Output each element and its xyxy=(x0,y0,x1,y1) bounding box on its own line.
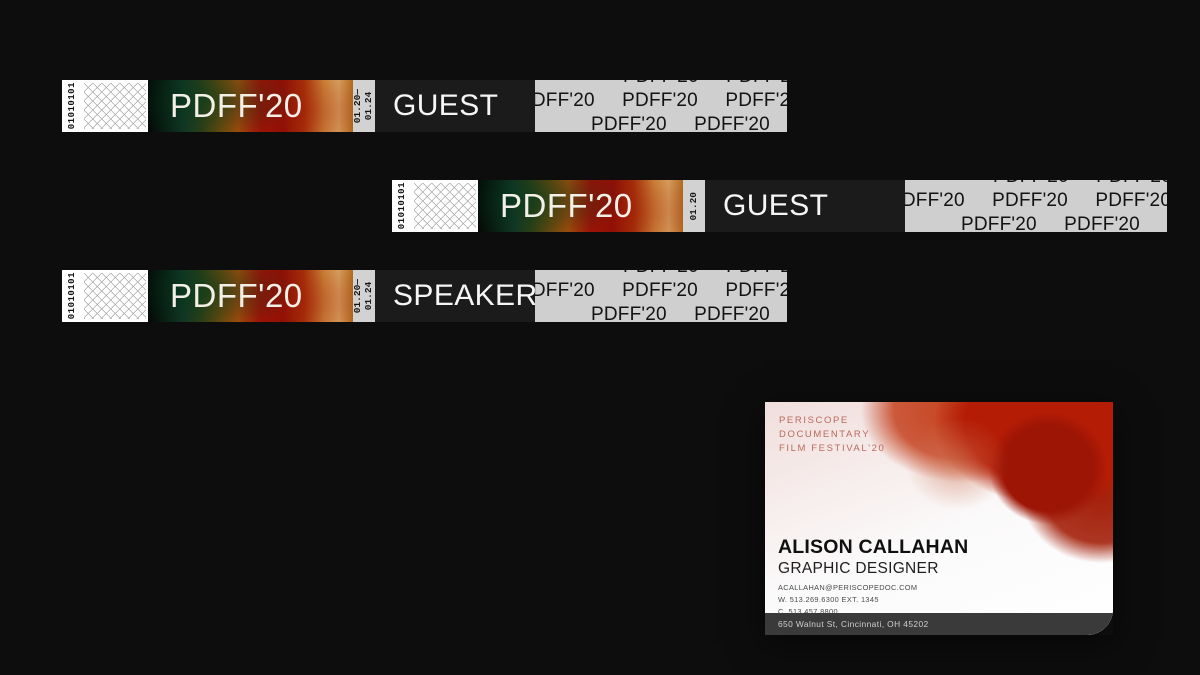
card-logo-line-2: DOCUMENTARY xyxy=(779,428,885,442)
ticket-pattern-panel: PDFF'20 PDFF'20 PDFF'20 PDFF'20 PDFF'20 … xyxy=(905,180,1167,232)
card-job-title: GRAPHIC DESIGNER xyxy=(778,560,939,578)
ticket-dates: 01.20 xyxy=(689,192,700,221)
pattern-text-row: PDFF'20 PDFF'20 PDFF'20 PDFF'20 PDFF'20 xyxy=(993,180,1167,188)
ticket-gradient-band: PDFF'20 xyxy=(148,270,353,322)
ticket-wordmark: PDFF'20 xyxy=(148,87,319,125)
ticket-role-label: SPEAKER xyxy=(375,270,535,322)
ticket-wordmark: PDFF'20 xyxy=(148,277,319,315)
pattern-text-row: PDFF'20 PDFF'20 PDFF'20 PDFF'20 PDFF'20 xyxy=(591,304,787,322)
ticket-dates: 01.20— 01.24 xyxy=(353,89,375,123)
ticket-stub: 01010101 xyxy=(62,80,148,132)
card-person-name: ALISON CALLAHAN xyxy=(778,536,968,559)
ticket-pattern-panel: PDFF'20 PDFF'20 PDFF'20 PDFF'20 PDFF'20 … xyxy=(535,80,787,132)
pattern-text-row: PDFF'20 PDFF'20 PDFF'20 PDFF'20 PDFF'20 xyxy=(535,90,787,112)
card-logo: PERISCOPE DOCUMENTARY FILM FESTIVAL'20 xyxy=(779,414,885,455)
card-logo-line-1: PERISCOPE xyxy=(779,414,885,428)
stub-binary-code: 01010101 xyxy=(68,272,77,319)
zigzag-pattern-icon xyxy=(84,273,146,319)
card-logo-line-3: FILM FESTIVAL'20 xyxy=(779,442,885,456)
ticket-stub: 01010101 xyxy=(392,180,478,232)
stub-binary-code: 01010101 xyxy=(398,182,407,229)
ticket-wordmark: PDFF'20 xyxy=(478,187,649,225)
design-canvas: 01010101 PDFF'20 01.20— 01.24 GUEST PDFF… xyxy=(0,0,1200,675)
ticket-dates: 01.20— 01.24 xyxy=(353,279,375,313)
ticket-gradient-band: PDFF'20 xyxy=(478,180,683,232)
zigzag-pattern-icon xyxy=(84,83,146,129)
ticket-date-column: 01.20 xyxy=(683,180,705,232)
ticket-speaker-full[interactable]: 01010101 PDFF'20 01.20— 01.24 SPEAKER PD… xyxy=(62,270,787,322)
pattern-text-row: PDFF'20 PDFF'20 PDFF'20 PDFF'20 PDFF'20 xyxy=(623,270,787,278)
ticket-date-column: 01.20— 01.24 xyxy=(353,80,375,132)
zigzag-pattern-icon xyxy=(414,183,476,229)
card-email[interactable]: ACALLAHAN@PERISCOPEDOC.COM xyxy=(778,582,917,594)
pattern-text-row: PDFF'20 PDFF'20 PDFF'20 PDFF'20 PDFF'20 xyxy=(535,280,787,302)
pattern-text-row: PDFF'20 PDFF'20 PDFF'20 PDFF'20 PDFF'20 xyxy=(623,80,787,88)
ticket-gradient-band: PDFF'20 xyxy=(148,80,353,132)
red-ink-wash xyxy=(897,420,1017,528)
stub-binary-code: 01010101 xyxy=(68,82,77,129)
ticket-guest-full[interactable]: 01010101 PDFF'20 01.20— 01.24 GUEST PDFF… xyxy=(62,80,787,132)
pattern-text-row: PDFF'20 PDFF'20 PDFF'20 PDFF'20 PDFF'20 xyxy=(961,214,1167,232)
ticket-guest-day[interactable]: 01010101 PDFF'20 01.20 GUEST PDFF'20 PDF… xyxy=(392,180,1167,232)
card-phone-work[interactable]: W. 513.269.6300 EXT. 1345 xyxy=(778,594,917,606)
pattern-text-row: PDFF'20 PDFF'20 PDFF'20 PDFF'20 PDFF'20 xyxy=(591,114,787,132)
ticket-role-label: GUEST xyxy=(705,180,905,232)
ticket-stub: 01010101 xyxy=(62,270,148,322)
ticket-date-column: 01.20— 01.24 xyxy=(353,270,375,322)
pattern-text-row: PDFF'20 PDFF'20 PDFF'20 PDFF'20 PDFF'20 xyxy=(905,190,1167,212)
ticket-role-label: GUEST xyxy=(375,80,535,132)
business-card[interactable]: PERISCOPE DOCUMENTARY FILM FESTIVAL'20 A… xyxy=(765,402,1113,635)
card-address: 650 Walnut St, Cincinnati, OH 45202 xyxy=(778,619,929,629)
ticket-pattern-panel: PDFF'20 PDFF'20 PDFF'20 PDFF'20 PDFF'20 … xyxy=(535,270,787,322)
card-address-bar: 650 Walnut St, Cincinnati, OH 45202 xyxy=(765,613,1113,635)
